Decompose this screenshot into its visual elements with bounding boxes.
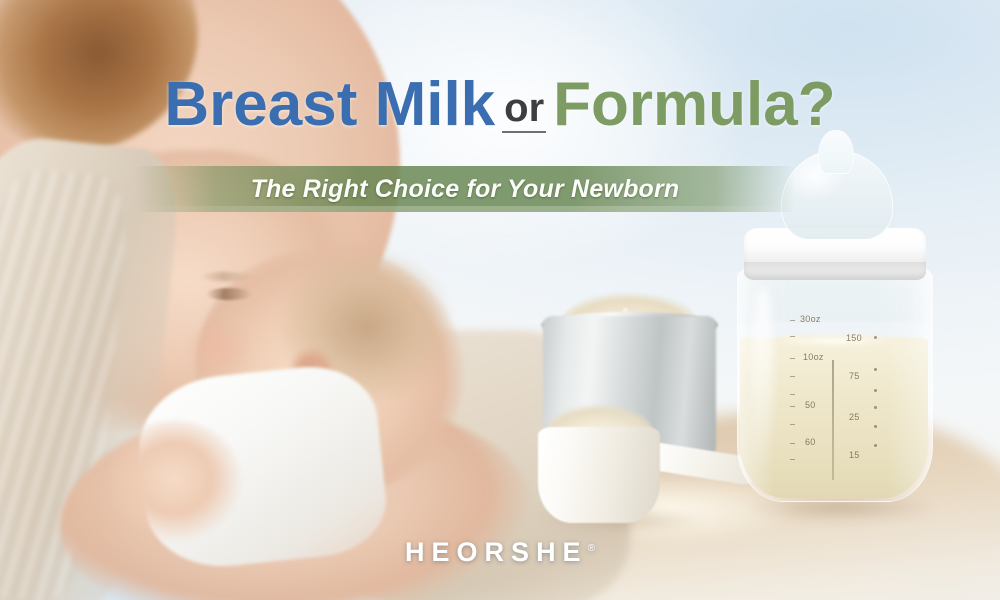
bottle-tick-left-0: 30oz [800,314,821,324]
bottle-dot-tick [874,425,877,428]
formula-scoop [538,427,660,523]
bottle-tick-right-1: 75 [849,371,860,381]
bottle-tick-right-3: 15 [849,450,860,460]
bottle-dot-tick [874,389,877,392]
bottle-scale-line [832,360,834,480]
bottle-minor-tick [790,320,795,321]
headline-formula: Formula? [553,70,835,139]
headline-or: or [502,86,546,133]
bottle-tick-left-1: 10oz [803,352,824,362]
bottle-minor-tick [790,459,795,460]
bottle-dot-tick [874,368,877,371]
bottle-tick-left-3: 60 [805,437,816,447]
headline: Breast MilkorFormula? [0,74,1000,136]
brand-logo: HEORSHE® [0,537,1000,568]
baby-closed-eye [206,288,252,300]
bottle-minor-tick [790,376,795,377]
bottle-collar-ridge [744,262,926,270]
bottle-dot-tick [874,444,877,447]
bottle-minor-tick [790,406,795,407]
bottle-tick-right-0: 150 [846,333,862,343]
brand-wordmark: HEORSHE [405,537,588,567]
baby-eyebrow [200,272,252,281]
bottle-dot-tick [874,406,877,409]
promo-banner: 30oz 10oz 50 60 150 75 25 15 Breast Milk… [0,0,1000,600]
bottle-highlight [752,286,774,476]
headline-breast-milk: Breast Milk [164,70,495,139]
subtitle: The Right Choice for Your Newborn [135,166,795,212]
bottle-minor-tick [790,336,795,337]
baby-arm [104,420,244,550]
trademark-symbol: ® [588,543,595,554]
bottle-minor-tick [790,394,795,395]
bottle-minor-tick [790,424,795,425]
bottle-minor-tick [790,443,795,444]
bottle-tick-right-2: 25 [849,412,860,422]
bottle-minor-tick [790,358,795,359]
bottle-tick-left-2: 50 [805,400,816,410]
bottle-dot-tick [874,336,877,339]
